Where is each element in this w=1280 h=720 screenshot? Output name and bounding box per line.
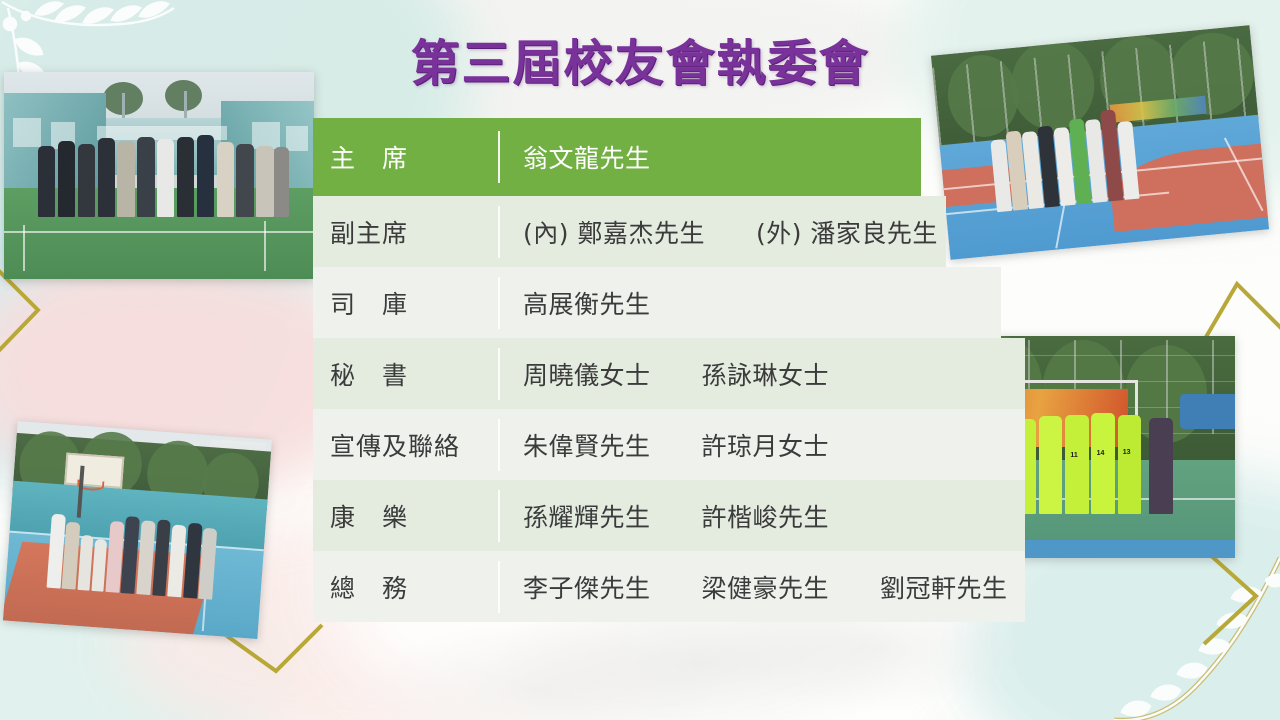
row-role: 康 樂 <box>313 498 498 534</box>
jersey-number: 14 <box>1097 450 1105 457</box>
row-names: (內) 鄭嘉杰先生 (外) 潘家良先生 <box>498 206 946 258</box>
table-row: 宣傳及聯絡 朱偉賢先生 許琼月女士 <box>313 409 1025 480</box>
row-names: 高展衡先生 <box>498 277 1001 329</box>
presentation-slide: 5 9 11 14 13 第三屆校友會執委會 主 席 翁文龍先生 副主席 (內)… <box>0 0 1280 720</box>
table-row: 總 務 李子傑先生 梁健豪先生 劉冠軒先生 <box>313 551 1025 622</box>
row-role: 副主席 <box>313 214 498 250</box>
row-names: 朱偉賢先生 許琼月女士 <box>498 419 1025 471</box>
jersey-number: 11 <box>1070 452 1077 459</box>
row-role: 秘 書 <box>313 356 498 392</box>
row-role: 司 庫 <box>313 285 498 321</box>
photo-top-left <box>4 72 314 279</box>
row-role: 宣傳及聯絡 <box>313 427 498 463</box>
row-names: 翁文龍先生 <box>498 131 921 183</box>
table-row: 秘 書 周曉儀女士 孫詠琳女士 <box>313 338 1025 409</box>
row-names: 周曉儀女士 孫詠琳女士 <box>498 348 1025 400</box>
photo-bottom-left <box>3 421 272 639</box>
jersey-number: 13 <box>1123 449 1131 456</box>
row-role: 總 務 <box>313 569 498 605</box>
row-role: 主 席 <box>313 139 498 175</box>
committee-table: 主 席 翁文龍先生 副主席 (內) 鄭嘉杰先生 (外) 潘家良先生 司 庫 高展… <box>313 118 1025 622</box>
row-names: 孫耀輝先生 許楷峻先生 <box>498 490 1025 542</box>
table-row: 主 席 翁文龍先生 <box>313 118 921 196</box>
table-row: 副主席 (內) 鄭嘉杰先生 (外) 潘家良先生 <box>313 196 946 267</box>
row-names: 李子傑先生 梁健豪先生 劉冠軒先生 <box>498 561 1025 613</box>
table-row: 司 庫 高展衡先生 <box>313 267 1001 338</box>
slide-title: 第三屆校友會執委會 <box>330 24 950 95</box>
table-row: 康 樂 孫耀輝先生 許楷峻先生 <box>313 480 1025 551</box>
